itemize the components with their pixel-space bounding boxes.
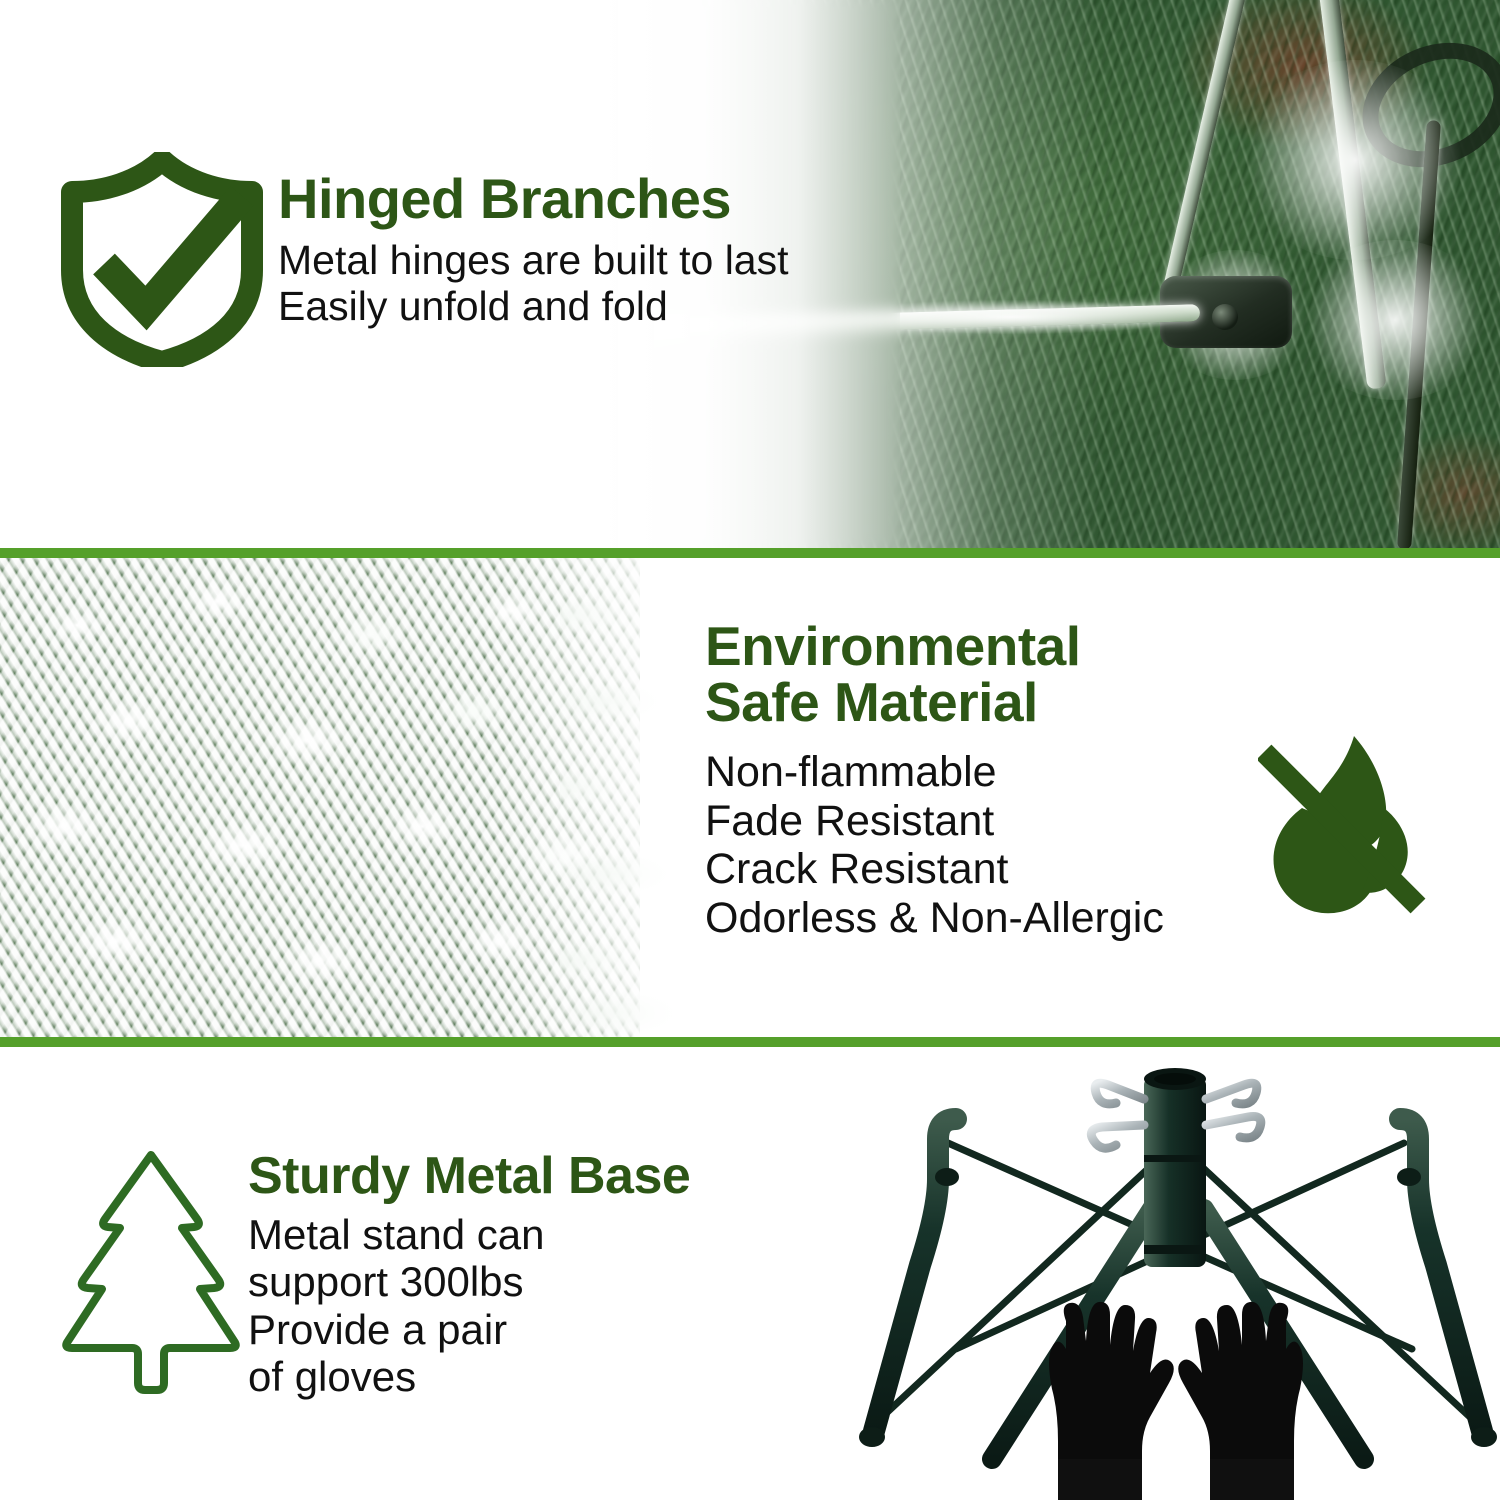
metal-base-body: Metal stand can support 300lbs Provide a… xyxy=(248,1211,868,1401)
metal-base-text-block: Sturdy Metal Base Metal stand can suppor… xyxy=(248,1150,868,1401)
divider-bar-1 xyxy=(0,548,1500,558)
section-hinged-branches: Hinged Branches Metal hinges are built t… xyxy=(0,0,1500,548)
hinged-branches-text-block: Hinged Branches Metal hinges are built t… xyxy=(278,170,978,330)
shield-check-icon xyxy=(58,152,266,367)
material-heading: Environmental Safe Material xyxy=(705,618,1345,730)
section-sturdy-metal-base: Sturdy Metal Base Metal stand can suppor… xyxy=(0,1047,1500,1500)
christmas-tree-outline-icon xyxy=(58,1145,244,1400)
metal-tree-stand-with-gloves-photo xyxy=(852,1059,1500,1500)
stand-leg-right xyxy=(1400,1119,1482,1431)
photo-white-fade-mask xyxy=(0,558,720,1037)
product-feature-infographic: Hinged Branches Metal hinges are built t… xyxy=(0,0,1500,1500)
pole-seam-lower xyxy=(1144,1245,1206,1254)
material-body: Non-flammable Fade Resistant Crack Resis… xyxy=(705,748,1345,942)
no-flame-icon xyxy=(1258,730,1430,926)
pole-top-bore xyxy=(1154,1073,1196,1085)
hinged-branches-heading: Hinged Branches xyxy=(278,170,978,227)
material-text-block: Environmental Safe Material Non-flammabl… xyxy=(705,618,1345,943)
glove-cuffs xyxy=(1058,1459,1294,1500)
stand-center-pole xyxy=(1144,1077,1206,1267)
hinged-branches-body: Metal hinges are built to last Easily un… xyxy=(278,237,978,330)
section-environmental-safe-material: Environmental Safe Material Non-flammabl… xyxy=(0,558,1500,1037)
metal-base-heading: Sturdy Metal Base xyxy=(248,1150,868,1203)
snow-flocked-tree-photo xyxy=(0,558,720,1037)
pole-seam-upper xyxy=(1144,1155,1206,1162)
divider-bar-2 xyxy=(0,1037,1500,1047)
